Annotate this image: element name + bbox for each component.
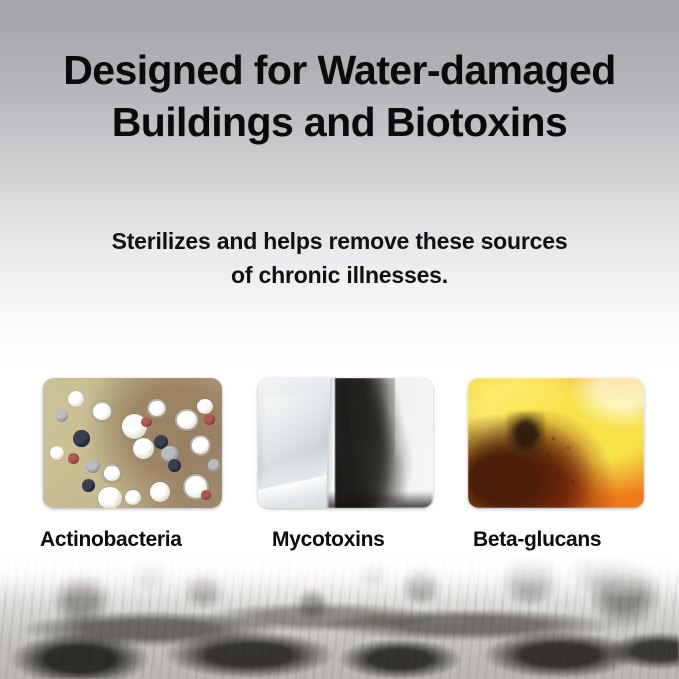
card-actinobacteria — [43, 378, 222, 508]
subtitle-line-1: Sterilizes and helps remove these source… — [112, 228, 568, 254]
card-beta-glucans — [468, 378, 644, 508]
black-mold-window-wall-image — [258, 378, 433, 508]
subtitle: Sterilizes and helps remove these source… — [0, 224, 679, 292]
mold-top-fade — [0, 555, 679, 599]
headline-line-2: Buildings and Biotoxins — [0, 96, 679, 148]
caption-mycotoxins: Mycotoxins — [272, 528, 385, 552]
petri-dish-bacterial-colonies-image — [43, 378, 222, 508]
headline-line-1: Designed for Water-damaged — [63, 47, 615, 93]
page-title: Designed for Water-damaged Buildings and… — [0, 44, 679, 148]
caption-actinobacteria: Actinobacteria — [40, 528, 182, 552]
subtitle-line-2: of chronic illnesses. — [0, 258, 679, 292]
source-card-row — [0, 378, 679, 510]
mold-texture-band — [0, 555, 679, 679]
mold-spray — [349, 383, 426, 503]
caption-beta-glucans: Beta-glucans — [473, 528, 601, 552]
mold-base-shadow — [328, 491, 433, 508]
spore-speckles — [521, 407, 602, 501]
fungal-spores-macro-image — [468, 378, 644, 508]
promo-image: Designed for Water-damaged Buildings and… — [0, 0, 679, 679]
card-mycotoxins — [258, 378, 433, 508]
